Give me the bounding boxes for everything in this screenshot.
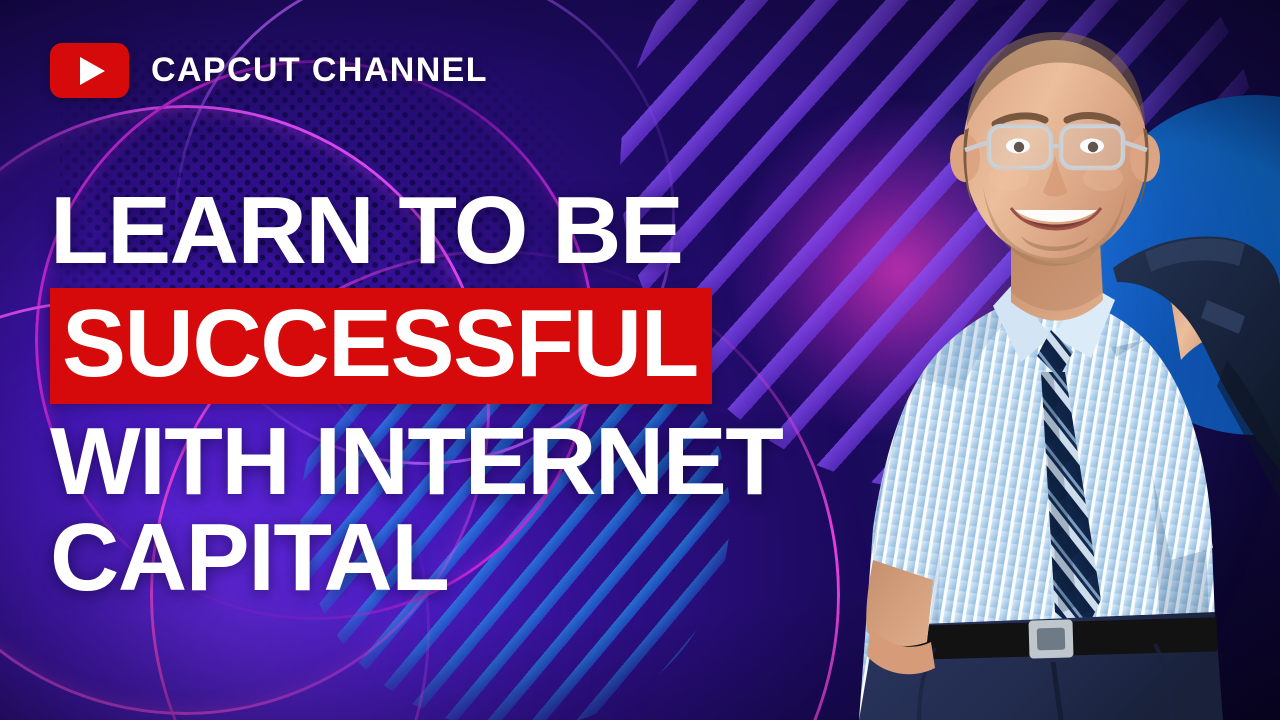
- youtube-play-icon[interactable]: [50, 43, 129, 98]
- jacket-lapel: [1201, 300, 1245, 334]
- shirt: [859, 292, 1219, 720]
- tie-knot: [1037, 330, 1073, 378]
- person-portrait: [815, 0, 1280, 720]
- glasses: [965, 126, 1147, 168]
- tie: [1041, 372, 1101, 636]
- belt-buckle: [1028, 619, 1073, 658]
- play-triangle-icon: [80, 57, 105, 85]
- youtube-thumbnail: CAPCUT CHANNEL LEARN TO BE SUCCESSFUL WI…: [0, 0, 1280, 720]
- channel-name-label: CAPCUT CHANNEL: [151, 51, 488, 90]
- neck: [1011, 226, 1103, 321]
- magenta-glow-blob: [735, 105, 1065, 435]
- headline-line-4: CAPITAL: [50, 510, 448, 606]
- right-hand: [1165, 252, 1224, 289]
- channel-badge[interactable]: CAPCUT CHANNEL: [50, 43, 488, 98]
- headline-block: LEARN TO BE SUCCESSFUL WITH INTERNET CAP…: [50, 183, 782, 606]
- beard: [983, 186, 1127, 266]
- headline-line-3: WITH INTERNET: [50, 414, 782, 510]
- hair: [967, 32, 1145, 126]
- trousers: [859, 612, 1223, 720]
- teeth: [1015, 210, 1097, 222]
- left-forearm: [866, 560, 933, 646]
- person-rim-glow: [845, 25, 1265, 715]
- headline-line-1: LEARN TO BE: [50, 183, 682, 279]
- jacket: [1113, 236, 1280, 470]
- face: [963, 40, 1147, 260]
- left-hand: [867, 626, 935, 674]
- headline-line-2-highlighted: SUCCESSFUL: [50, 288, 712, 404]
- belt: [883, 617, 1218, 660]
- blue-circle-shape: [1085, 95, 1280, 435]
- right-forearm: [1171, 281, 1227, 360]
